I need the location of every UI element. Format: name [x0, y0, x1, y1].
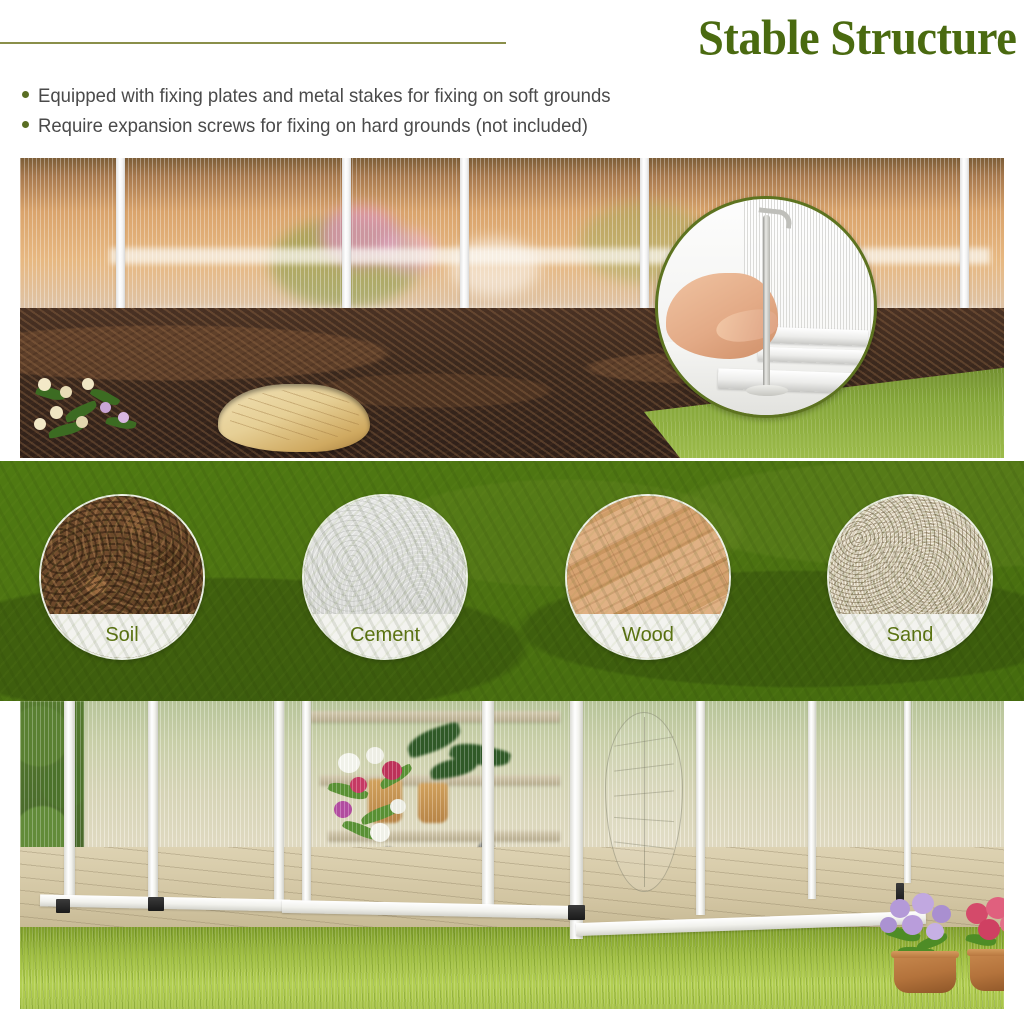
frame-post	[808, 701, 816, 899]
frame-post	[302, 701, 311, 909]
decorative-rock	[218, 384, 370, 452]
swatch-label: Wood	[622, 625, 674, 645]
swatch-label-band: Wood	[567, 614, 729, 658]
flower-petal	[82, 378, 94, 390]
feature-bullet-list: Equipped with fixing plates and metal st…	[22, 84, 982, 144]
frame-post	[64, 701, 75, 901]
flower-petal	[100, 402, 111, 413]
top-product-photo	[20, 158, 1004, 458]
frame-post	[904, 701, 911, 883]
bottom-product-photo	[20, 701, 1004, 1009]
sand-texture	[829, 496, 991, 658]
ground-types-band: Soil Cement Wood Sand	[0, 461, 1024, 701]
swatch-label: Cement	[350, 625, 420, 645]
flower-petal	[76, 416, 88, 428]
bullet-dot-icon	[22, 121, 29, 128]
fixing-plate	[56, 899, 70, 913]
header: Stable Structure Equipped with fixing pl…	[0, 0, 1024, 150]
material-swatch-soil: Soil	[39, 494, 205, 660]
lawn	[20, 927, 1004, 1009]
terracotta-pot	[970, 949, 1004, 991]
swatch-label-band: Cement	[304, 614, 466, 658]
list-item: Require expansion screws for fixing on h…	[22, 114, 982, 144]
leaf-vein	[614, 841, 674, 849]
soil-texture	[41, 496, 203, 658]
swatch-label: Soil	[105, 625, 138, 645]
leaf-vein	[614, 736, 673, 746]
bullet-text: Require expansion screws for fixing on h…	[38, 114, 588, 138]
flower-bloom	[932, 905, 951, 923]
flower-petal	[118, 412, 129, 423]
bullet-text: Equipped with fixing plates and metal st…	[38, 84, 611, 108]
flower-bloom	[912, 893, 934, 914]
flower-bloom	[986, 897, 1004, 919]
flower-bloom	[978, 919, 1000, 940]
swatch-label-band: Sand	[829, 614, 991, 658]
flower-petal	[38, 378, 51, 391]
list-item: Equipped with fixing plates and metal st…	[22, 84, 982, 114]
material-swatch-wood: Wood	[565, 494, 731, 660]
frame-post	[274, 701, 284, 909]
flower-cluster	[30, 344, 190, 454]
product-feature-page: Stable Structure Equipped with fixing pl…	[0, 0, 1024, 1024]
corner-frame-post	[570, 701, 583, 939]
flower-petal	[34, 418, 46, 430]
leaf-vein	[614, 763, 674, 771]
stake-base-washer	[746, 385, 788, 396]
fixing-plate	[568, 905, 585, 920]
ground-stake-icon	[763, 215, 770, 393]
stake-detail-callout	[655, 196, 877, 418]
terracotta-pot	[894, 951, 956, 993]
swatch-label-band: Soil	[41, 614, 203, 658]
bullet-dot-icon	[22, 91, 29, 98]
material-swatch-sand: Sand	[827, 494, 993, 660]
material-swatch-cement: Cement	[302, 494, 468, 660]
flower-petal	[50, 406, 63, 419]
flower-petal	[60, 386, 72, 398]
wood-texture	[567, 496, 729, 658]
leaf-vein	[614, 790, 674, 796]
leaf-vein	[614, 817, 674, 822]
frame-post	[482, 701, 494, 915]
swatch-label: Sand	[887, 625, 934, 645]
flower-bloom	[926, 923, 944, 940]
frame-post	[696, 701, 705, 915]
frame-post	[148, 701, 158, 905]
fixing-plate	[148, 897, 164, 911]
cement-texture	[304, 496, 466, 658]
page-title: Stable Structure	[698, 8, 1016, 66]
title-divider-rule	[0, 42, 506, 44]
flower-bloom	[880, 917, 897, 933]
flower-bloom	[902, 915, 923, 935]
